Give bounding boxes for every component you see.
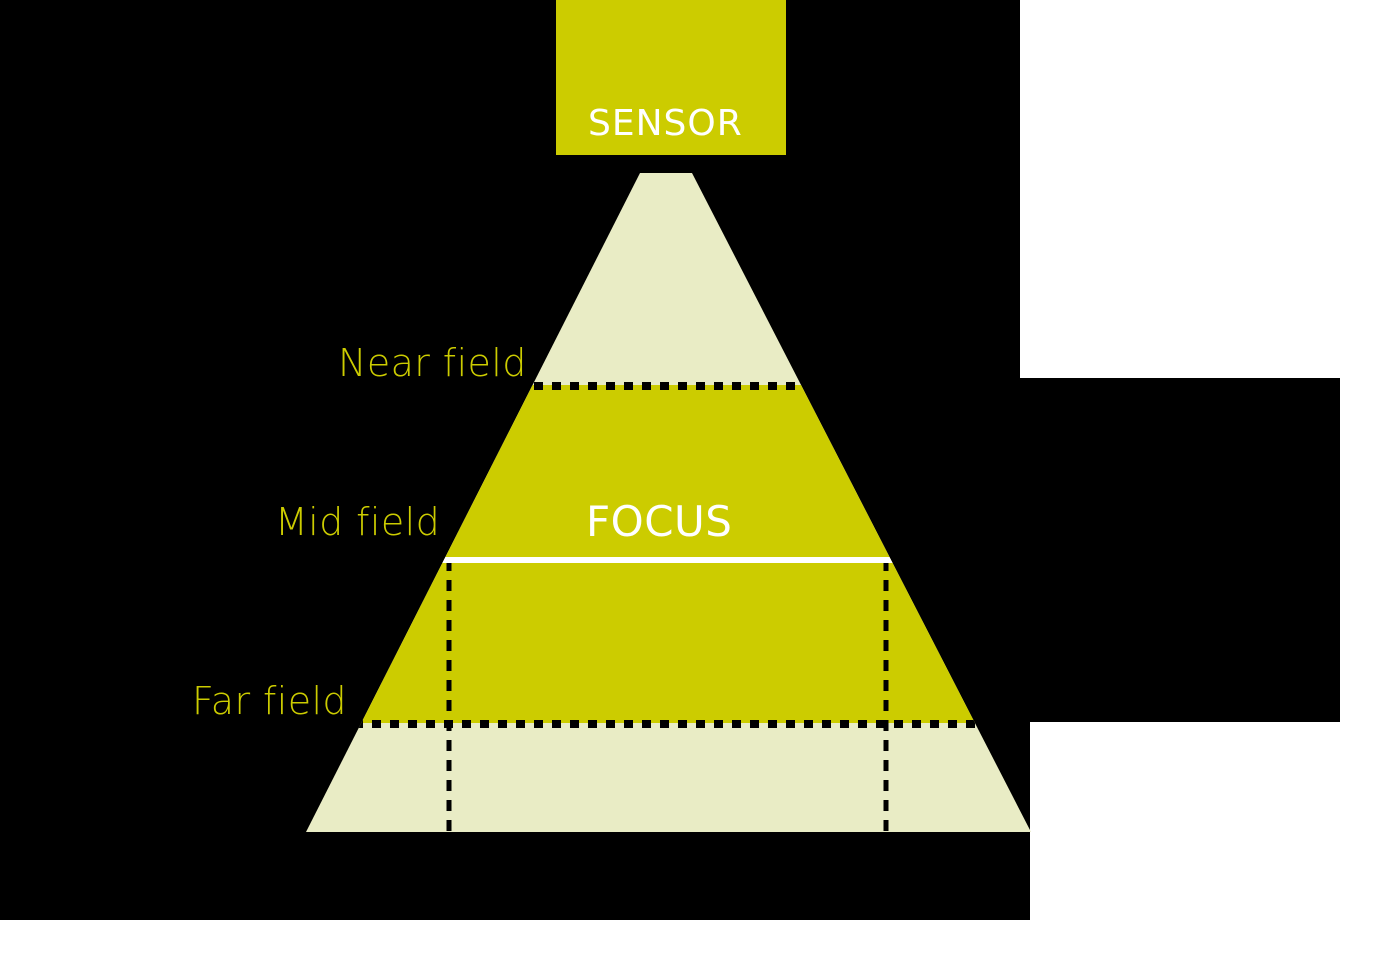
focus-band — [0, 385, 1400, 723]
far-field-label: Far field — [192, 679, 347, 723]
mid-field-label: Mid field — [275, 500, 440, 544]
focus-band-group — [0, 385, 1400, 723]
near-field-label: Near field — [338, 341, 527, 385]
sensor-cone-graphic — [0, 0, 1400, 974]
sensor-label: SENSOR — [588, 103, 743, 144]
focus-label: FOCUS — [586, 497, 732, 546]
diagram-canvas: SENSOR FOCUS Near field Mid field Far fi… — [0, 0, 1400, 974]
